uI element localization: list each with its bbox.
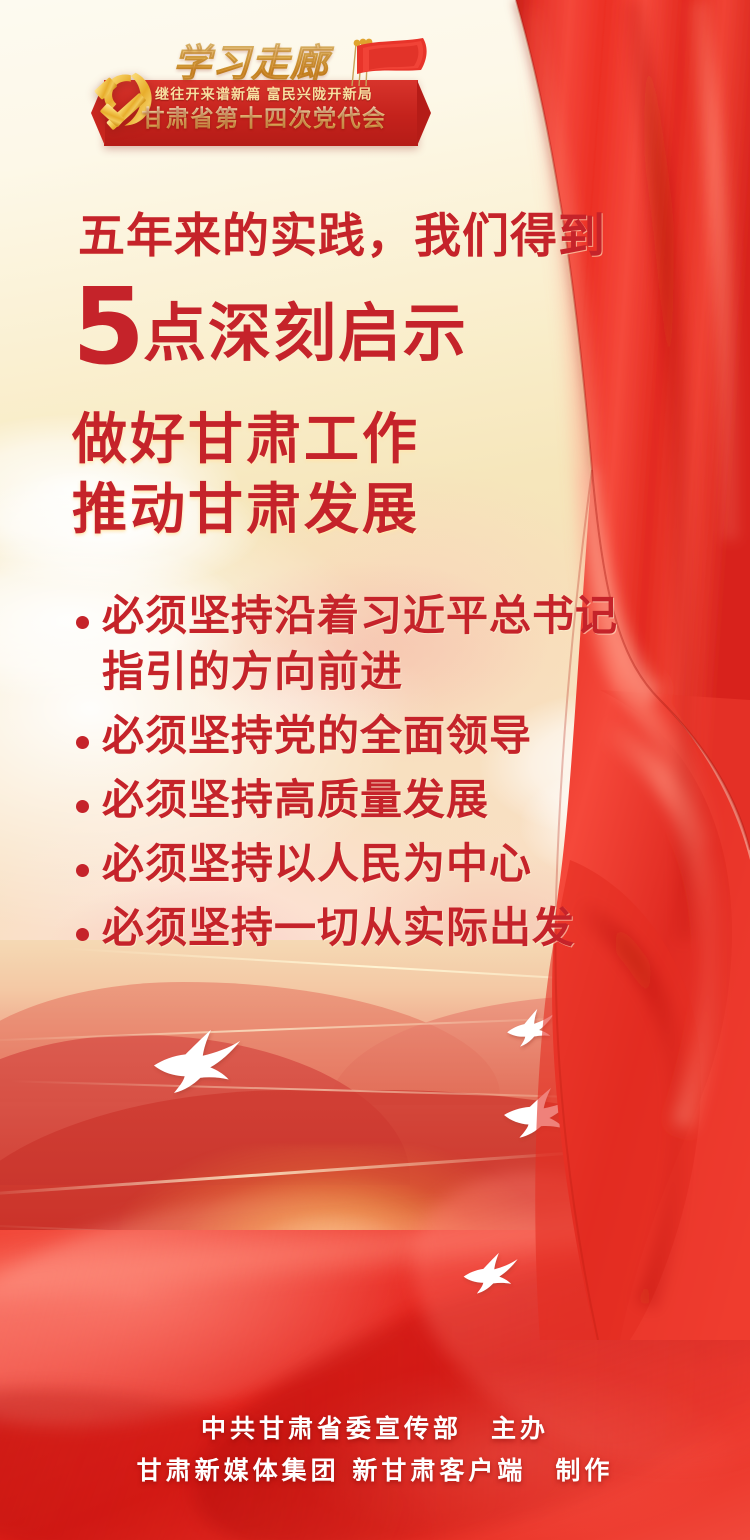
big-number-row: 5 点深刻启示 — [72, 278, 612, 376]
big-number-label: 点深刻启示 — [143, 296, 468, 376]
list-item: 必须坚持一切从实际出发 — [76, 900, 676, 956]
list-item: 必须坚持高质量发展 — [76, 772, 676, 828]
footer-line-sponsor: 中共甘肃省委宣传部 主办 — [0, 1408, 750, 1450]
footer: 中共甘肃省委宣传部 主办 甘肃新媒体集团 新甘肃客户端 制作 — [0, 1408, 750, 1492]
bullet-list: 必须坚持沿着习近平总书记指引的方向前进 必须坚持党的全面领导 必须坚持高质量发展… — [76, 588, 676, 964]
bullet-dot-icon — [76, 864, 89, 877]
banner-title: 学习走廊 — [173, 40, 373, 88]
list-item-label: 必须坚持高质量发展 — [102, 772, 489, 828]
headline: 五年来的实践，我们得到 — [78, 208, 598, 266]
subline-first: 做好甘肃工作 — [72, 408, 592, 470]
list-item: 必须坚持以人民为中心 — [76, 836, 676, 892]
main-content: 五年来的实践，我们得到 5 点深刻启示 做好甘肃工作 推动甘肃发展 必须坚持沿着… — [0, 0, 750, 1540]
banner-subtitle: 继往开来谱新篇 富民兴陇开新局 — [124, 86, 404, 102]
list-item-label: 必须坚持一切从实际出发 — [102, 900, 575, 956]
poster-root: 学习走廊 继往开来谱新篇 富民兴陇开新局 甘肃省第十四次党代会 五年来的实践，我… — [0, 0, 750, 1540]
list-item: 必须坚持沿着习近平总书记指引的方向前进 — [76, 588, 676, 700]
list-item-label: 必须坚持党的全面领导 — [102, 708, 532, 764]
big-number: 5 — [72, 278, 143, 376]
list-item-label: 必须坚持沿着习近平总书记指引的方向前进 — [102, 588, 622, 700]
bullet-dot-icon — [76, 736, 89, 749]
banner-main-text: 甘肃省第十四次党代会 — [120, 106, 408, 132]
bullet-dot-icon — [76, 800, 89, 813]
bullet-dot-icon — [76, 928, 89, 941]
footer-line-producer: 甘肃新媒体集团 新甘肃客户端 制作 — [0, 1450, 750, 1492]
subline-second: 推动甘肃发展 — [72, 478, 592, 540]
list-item-label: 必须坚持以人民为中心 — [102, 836, 532, 892]
list-item: 必须坚持党的全面领导 — [76, 708, 676, 764]
bullet-dot-icon — [76, 616, 89, 629]
